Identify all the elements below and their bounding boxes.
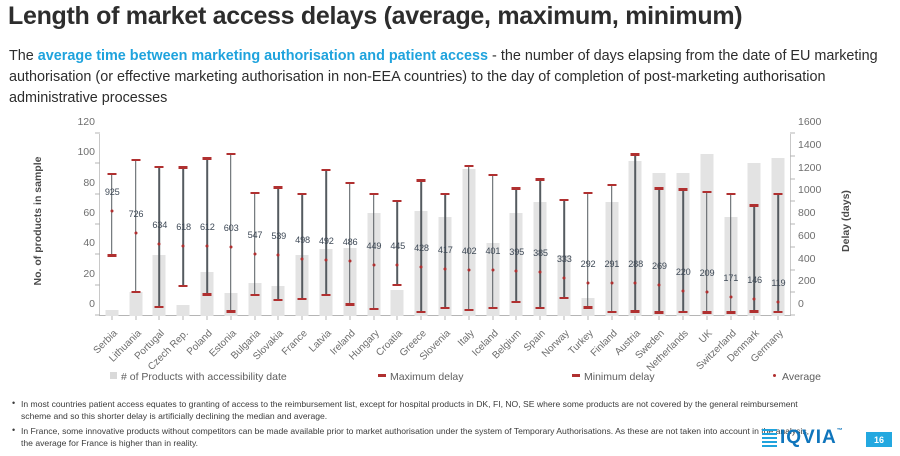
x-axis-tickmark (278, 316, 279, 320)
average-marker (729, 295, 732, 298)
whisker-cap-min (203, 293, 212, 295)
average-marker (396, 264, 399, 267)
legend-swatch-icon (378, 374, 386, 377)
chart-column[interactable]: 634Portugal (148, 134, 172, 316)
whisker-cap-max (393, 200, 402, 202)
whisker-line (278, 189, 280, 302)
chart-column[interactable]: 292Turkey (576, 134, 600, 316)
whisker-cap-max (274, 186, 283, 188)
whisker-cap-min (298, 298, 307, 300)
chart-column[interactable]: 385Spain (528, 134, 552, 316)
whisker-cap-min (369, 308, 378, 310)
whisker-cap-min (750, 310, 759, 312)
average-value-label: 547 (248, 230, 263, 240)
whisker-line (754, 207, 756, 313)
average-marker (420, 266, 423, 269)
x-axis-tickmark (302, 316, 303, 320)
x-axis-tickmark (444, 316, 445, 320)
average-value-label: 333 (557, 254, 572, 264)
average-marker (610, 281, 613, 284)
average-marker (325, 259, 328, 262)
whisker-cap-min (155, 306, 164, 308)
average-marker (277, 253, 280, 256)
x-axis-tickmark (349, 316, 350, 320)
average-value-label: 428 (414, 243, 429, 253)
x-axis-tickmark (183, 316, 184, 320)
whisker-cap-min (488, 307, 497, 309)
x-axis-tickmark (682, 316, 683, 320)
whisker-line (230, 155, 232, 313)
average-value-label: 492 (319, 236, 334, 246)
whisker-cap-min (678, 311, 687, 313)
average-value-label: 612 (200, 222, 215, 232)
logo-trademark: ™ (837, 428, 844, 434)
average-value-label: 292 (581, 259, 596, 269)
whisker-line (706, 193, 708, 314)
chart-column[interactable]: 333Norway (552, 134, 576, 316)
average-value-label: 146 (747, 275, 762, 285)
average-value-label: 119 (771, 278, 785, 288)
average-value-label: 209 (700, 268, 715, 278)
whisker-line (563, 201, 565, 299)
whisker-cap-max (678, 188, 687, 190)
axis-line-right (790, 134, 791, 316)
x-axis-tickmark (397, 316, 398, 320)
whisker-cap-max (559, 199, 568, 201)
whisker-cap-max (726, 193, 735, 195)
y-axis-right-tick: 1200 (798, 162, 821, 174)
x-axis-tickmark (468, 316, 469, 320)
y-axis-right-tick: 800 (798, 207, 816, 219)
chart-column[interactable]: 288Austria (623, 134, 647, 316)
y-axis-right-tick: 400 (798, 253, 816, 265)
whisker-cap-min (440, 307, 449, 309)
chart-column[interactable]: 428Greece (409, 134, 433, 316)
x-axis-tickmark (159, 316, 160, 320)
slide-root: Length of market access delays (average,… (0, 0, 900, 456)
whisker-cap-max (298, 193, 307, 195)
whisker-line (468, 167, 470, 311)
chart-column[interactable]: 402Italy (457, 134, 481, 316)
average-value-label: 395 (509, 247, 524, 257)
x-axis-tickmark (492, 316, 493, 320)
whisker-cap-min (393, 284, 402, 286)
whisker-line (135, 161, 137, 293)
x-axis-tickmark (659, 316, 660, 320)
whisker-cap-min (607, 311, 616, 313)
average-marker (229, 246, 232, 249)
whisker-cap-min (536, 307, 545, 309)
bar-products-count (391, 290, 404, 316)
average-marker (539, 271, 542, 274)
y-axis-right-tickmark (790, 315, 795, 316)
whisker-line (301, 195, 303, 300)
logo-text: IQVIA™ (780, 428, 844, 447)
chart-column[interactable]: 171Switzerland (719, 134, 743, 316)
whisker-cap-max (107, 173, 116, 175)
whisker-cap-min (559, 297, 568, 299)
average-value-label: 539 (271, 231, 286, 241)
whisker-cap-max (488, 174, 497, 176)
chart-column[interactable]: 603Estonia (219, 134, 243, 316)
average-value-label: 486 (343, 237, 358, 247)
average-marker (134, 232, 137, 235)
x-axis-tickmark (754, 316, 755, 320)
whisker-line (635, 156, 637, 313)
y-axis-left-label: No. of products in sample (32, 157, 44, 286)
chart-column[interactable]: 401Iceland (481, 134, 505, 316)
whisker-cap-max (536, 178, 545, 180)
x-axis-tickmark (706, 316, 707, 320)
average-value-label: 417 (438, 245, 453, 255)
y-axis-right-tick: 200 (798, 275, 816, 287)
average-marker (562, 277, 565, 280)
x-axis-category-label: UK (697, 328, 715, 346)
x-axis-tickmark (778, 316, 779, 320)
average-marker (443, 267, 446, 270)
chart-column[interactable]: 209UK (695, 134, 719, 316)
average-marker (467, 269, 470, 272)
y-axis-right-tickmark (790, 269, 795, 270)
whisker-cap-max (440, 193, 449, 195)
average-marker (586, 281, 589, 284)
y-axis-right-label: Delay (days) (840, 190, 852, 252)
average-value-label: 385 (533, 248, 548, 258)
average-value-label: 220 (676, 267, 691, 277)
whisker-cap-max (179, 166, 188, 168)
legend-label: Average (782, 371, 821, 383)
bar-products-count (129, 292, 142, 316)
average-marker (681, 289, 684, 292)
whisker-cap-max (512, 187, 521, 189)
legend-item[interactable]: Minimum delay (572, 371, 655, 383)
average-marker (658, 284, 661, 287)
legend-swatch-icon (773, 374, 776, 377)
chart-column[interactable]: 395Belgium (504, 134, 528, 316)
average-value-label: 445 (390, 241, 405, 251)
average-value-label: 925 (105, 187, 120, 197)
y-axis-left-tick: 40 (83, 237, 95, 249)
y-axis-right-tickmark (790, 155, 795, 156)
page-title: Length of market access delays (average,… (8, 2, 742, 31)
legend-swatch-icon (572, 374, 580, 377)
x-axis-tickmark (207, 316, 208, 320)
average-value-label: 291 (604, 259, 619, 269)
whisker-cap-min (464, 309, 473, 311)
y-axis-left-tick: 80 (83, 177, 95, 189)
plot-area: 0204060801001200200400600800100012001400… (100, 134, 790, 316)
whisker-line (373, 195, 375, 310)
average-value-label: 498 (295, 235, 310, 245)
iqvia-logo: IQVIA™ (762, 428, 844, 447)
x-axis-category-label: France (280, 328, 310, 358)
average-marker (515, 270, 518, 273)
x-axis-tickmark (587, 316, 588, 320)
whisker-cap-max (417, 179, 426, 181)
average-marker (491, 269, 494, 272)
whisker-cap-min (107, 254, 116, 256)
chart-column[interactable]: 618Czech Rep. (171, 134, 195, 316)
chart-column[interactable]: 492Latvia (314, 134, 338, 316)
whisker-cap-min (345, 303, 354, 305)
chart-column[interactable]: 925Serbia (100, 134, 124, 316)
x-axis-tickmark (421, 316, 422, 320)
page-number-badge: 16 (866, 432, 892, 447)
average-value-label: 401 (486, 246, 501, 256)
bar-products-count (177, 305, 190, 316)
average-marker (253, 252, 256, 255)
whisker-line (539, 181, 541, 310)
y-axis-right-tick: 600 (798, 230, 816, 242)
x-axis-tickmark (563, 316, 564, 320)
y-axis-left-tick: 100 (77, 146, 95, 158)
x-axis-tickmark (111, 316, 112, 320)
logo-bars-icon (762, 429, 777, 447)
whisker-cap-min (131, 291, 140, 293)
whisker-cap-min (583, 306, 592, 308)
average-marker (348, 259, 351, 262)
whisker-cap-max (322, 169, 331, 171)
y-axis-left-tick: 0 (89, 298, 95, 310)
x-axis-tickmark (635, 316, 636, 320)
average-marker (753, 298, 756, 301)
average-value-label: 269 (652, 261, 667, 271)
chart-column[interactable]: 119Germany (766, 134, 790, 316)
y-axis-right-tick: 1400 (798, 139, 821, 151)
y-axis-right-tick: 0 (798, 298, 804, 310)
chart-legend: # of Products with accessibility dateMax… (110, 371, 790, 387)
whisker-cap-min (702, 311, 711, 313)
chart-container: No. of products in sample Delay (days) 0… (34, 126, 874, 391)
average-marker (206, 245, 209, 248)
y-axis-left-tick: 60 (83, 207, 95, 219)
whisker-cap-min (631, 310, 640, 312)
x-axis-tickmark (230, 316, 231, 320)
average-marker (705, 291, 708, 294)
whisker-cap-min (226, 310, 235, 312)
average-value-label: 634 (152, 220, 167, 230)
chart-column[interactable]: 445Croatia (386, 134, 410, 316)
y-axis-right-tickmark (790, 224, 795, 225)
x-axis-tickmark (516, 316, 517, 320)
y-axis-right-tickmark (790, 178, 795, 179)
average-value-label: 171 (723, 273, 738, 283)
chart-column[interactable]: 291Finland (600, 134, 624, 316)
whisker-cap-max (631, 153, 640, 155)
whisker-cap-max (750, 204, 759, 206)
chart-column[interactable]: 417Slovenia (433, 134, 457, 316)
legend-label: # of Products with accessibility date (121, 371, 287, 383)
intro-paragraph: The average time between marketing autho… (9, 46, 885, 109)
whisker-line (254, 194, 256, 296)
x-axis-tickmark (730, 316, 731, 320)
y-axis-right-tick: 1600 (798, 116, 821, 128)
average-value-label: 402 (462, 246, 477, 256)
whisker-cap-min (417, 311, 426, 313)
x-axis-tickmark (611, 316, 612, 320)
whisker-cap-min (322, 294, 331, 296)
whisker-cap-max (203, 157, 212, 159)
intro-lead: The (9, 48, 38, 64)
whisker-line (492, 176, 494, 309)
whisker-cap-max (607, 184, 616, 186)
chart-column[interactable]: 269Sweden (647, 134, 671, 316)
whisker-line (325, 171, 327, 296)
whisker-line (159, 168, 161, 308)
whisker-line (611, 186, 613, 313)
legend-item[interactable]: Maximum delay (378, 371, 464, 383)
average-marker (777, 301, 780, 304)
footnote-item: In France, some innovative products with… (10, 425, 810, 450)
whisker-cap-min (179, 285, 188, 287)
chart-column[interactable]: 220Netherlands (671, 134, 695, 316)
chart-column[interactable]: 539Slovakia (267, 134, 291, 316)
y-axis-left-tick: 20 (83, 268, 95, 280)
whisker-cap-max (345, 182, 354, 184)
whisker-cap-min (250, 294, 259, 296)
whisker-line (682, 191, 684, 313)
average-value-label: 288 (628, 259, 643, 269)
average-value-label: 449 (367, 241, 382, 251)
y-axis-right-tickmark (790, 133, 795, 134)
intro-highlight: average time between marketing authorisa… (38, 48, 488, 64)
average-value-label: 603 (224, 223, 239, 233)
average-value-label: 618 (176, 222, 191, 232)
legend-item[interactable]: Average (770, 371, 821, 383)
footnotes: In most countries patient access equates… (10, 398, 810, 452)
whisker-line (777, 195, 779, 313)
whisker-cap-min (512, 301, 521, 303)
chart-column[interactable]: 547Bulgaria (243, 134, 267, 316)
y-axis-left-tick: 120 (77, 116, 95, 128)
whisker-line (587, 194, 589, 308)
y-axis-right-tickmark (790, 292, 795, 293)
average-marker (372, 263, 375, 266)
average-marker (634, 282, 637, 285)
x-axis-tickmark (135, 316, 136, 320)
legend-label: Maximum delay (390, 371, 464, 383)
average-marker (301, 258, 304, 261)
y-axis-right-tickmark (790, 201, 795, 202)
whisker-cap-min (726, 311, 735, 313)
chart-column[interactable]: 612Poland (195, 134, 219, 316)
whisker-cap-max (250, 192, 259, 194)
x-axis-tickmark (540, 316, 541, 320)
footnote-item: In most countries patient access equates… (10, 398, 810, 423)
average-value-label: 726 (129, 209, 144, 219)
whisker-line (658, 190, 660, 314)
y-axis-right-tickmark (790, 246, 795, 247)
whisker-cap-max (655, 187, 664, 189)
whisker-cap-max (369, 193, 378, 195)
legend-item[interactable]: # of Products with accessibility date (110, 371, 287, 383)
whisker-cap-max (155, 166, 164, 168)
whisker-cap-max (131, 159, 140, 161)
legend-label: Minimum delay (584, 371, 655, 383)
average-marker (182, 244, 185, 247)
chart-column[interactable]: 726Lithuania (124, 134, 148, 316)
y-axis-right-tick: 1000 (798, 184, 821, 196)
whisker-cap-min (774, 311, 783, 313)
whisker-cap-max (226, 153, 235, 155)
x-axis-tickmark (373, 316, 374, 320)
whisker-cap-min (274, 299, 283, 301)
average-marker (158, 242, 161, 245)
average-marker (110, 209, 113, 212)
x-axis-tickmark (326, 316, 327, 320)
whisker-cap-max (464, 165, 473, 167)
whisker-cap-max (774, 193, 783, 195)
x-axis-tickmark (254, 316, 255, 320)
chart-column[interactable]: 498France (290, 134, 314, 316)
whisker-cap-max (702, 191, 711, 193)
chart-column[interactable]: 486Ireland (338, 134, 362, 316)
whisker-cap-max (583, 192, 592, 194)
chart-column[interactable]: 146Denmark (742, 134, 766, 316)
chart-column[interactable]: 449Hungary (362, 134, 386, 316)
whisker-cap-min (655, 311, 664, 313)
legend-swatch-icon (110, 372, 117, 379)
